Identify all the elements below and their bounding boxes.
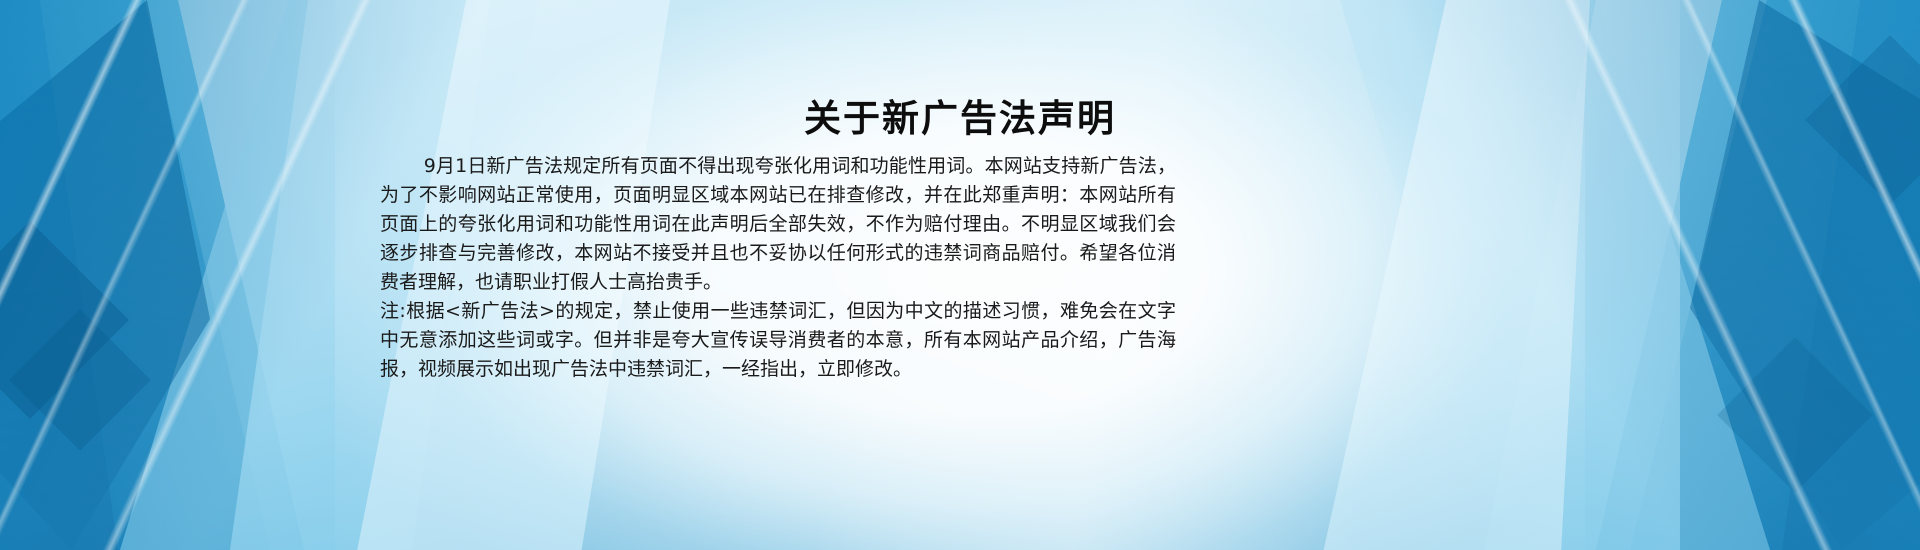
statement-content: 关于新广告法声明 9月1日新广告法规定所有页面不得出现夸张化用词和功能性用词。本… — [0, 0, 1920, 550]
statement-body: 9月1日新广告法规定所有页面不得出现夸张化用词和功能性用词。本网站支持新广告法，… — [380, 152, 1176, 384]
statement-paragraph-main: 9月1日新广告法规定所有页面不得出现夸张化用词和功能性用词。本网站支持新广告法，… — [380, 152, 1176, 297]
advertising-law-statement-banner: 关于新广告法声明 9月1日新广告法规定所有页面不得出现夸张化用词和功能性用词。本… — [0, 0, 1920, 550]
statement-paragraph-note: 注:根据<新广告法>的规定，禁止使用一些违禁词汇，但因为中文的描述习惯，难免会在… — [380, 297, 1176, 384]
page-title: 关于新广告法声明 — [0, 88, 1920, 142]
